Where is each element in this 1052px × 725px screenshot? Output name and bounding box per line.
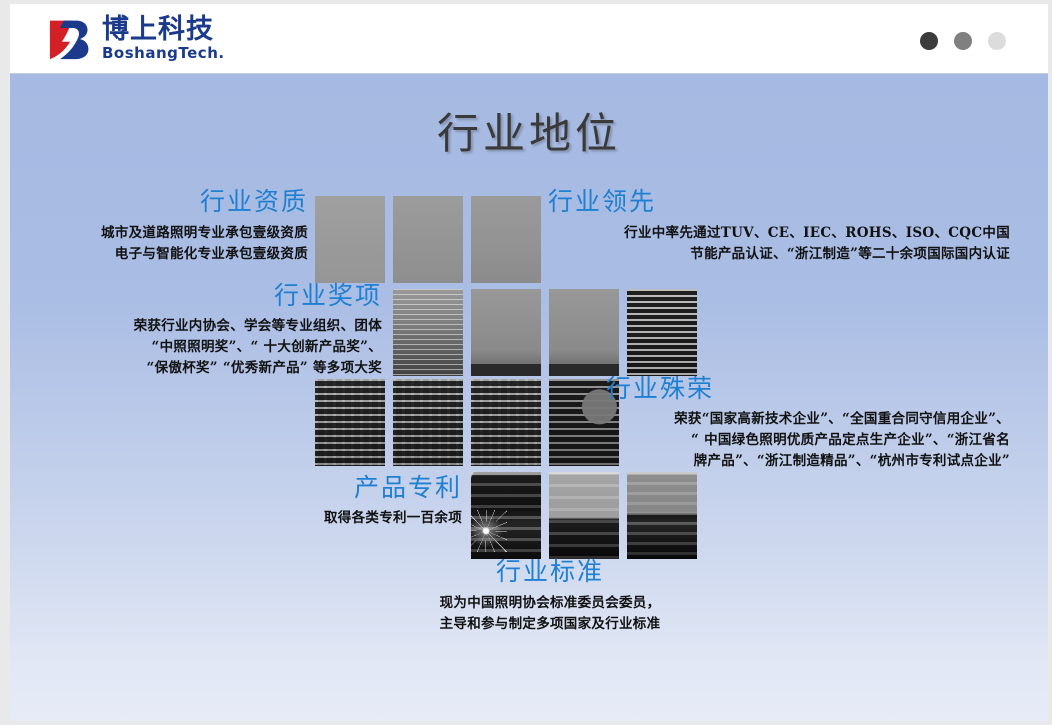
callout-patents-body: 取得各类专利一百余项 [190, 508, 462, 529]
brand-name-cn: 博上科技 [102, 16, 225, 43]
callout-patents-line-1: 取得各类专利一百余项 [190, 508, 462, 529]
callout-patents-heading: 产品专利 [190, 474, 462, 503]
brand-name-en: BoshangTech. [102, 46, 225, 61]
callout-standards-line-1: 现为中国照明协会标准委员会委员， [340, 593, 760, 614]
callout-qualification: 行业资质 城市及道路照明专业承包壹级资质 电子与智能化专业承包壹级资质 [30, 188, 308, 265]
callout-qualification-line-2: 电子与智能化专业承包壹级资质 [30, 244, 308, 265]
page-header: 博上科技 BoshangTech. [10, 4, 1048, 74]
dot-medium-icon[interactable] [954, 32, 972, 50]
callout-honors-body: 荣获“国家高新技术企业”、“全国重合同守信用企业”、 “ 中国绿色照明优质产品定… [606, 409, 1010, 472]
slide-viewer: 博上科技 BoshangTech. 行业地位 [0, 0, 1052, 725]
callout-leading-line-1: 行业中率先通过TUV、CE、IEC、ROHS、ISO、CQC中国 [548, 223, 1010, 244]
photo-tile-sky-3 [471, 196, 541, 283]
dot-light-icon[interactable] [988, 32, 1006, 50]
callout-leading-heading: 行业领先 [548, 188, 1010, 217]
callout-awards-line-3: “保傲杯奖” “优秀新产品” 等多项大奖 [70, 358, 382, 379]
photo-tile-dome [549, 289, 619, 376]
slide-canvas: 行业地位 行业资质 [10, 74, 1048, 721]
callout-leading-line-2: 节能产品认证、“浙江制造”等二十余项国际国内认证 [548, 244, 1010, 265]
dot-dark-icon[interactable] [920, 32, 938, 50]
callout-awards-line-1: 荣获行业内协会、学会等专业组织、团体 [70, 316, 382, 337]
photo-tile-street-3 [627, 472, 697, 559]
callout-standards-body: 现为中国照明协会标准委员会委员， 主导和参与制定多项国家及行业标准 [340, 593, 760, 635]
photo-tile-street-2 [549, 472, 619, 559]
callout-standards-heading: 行业标准 [340, 558, 760, 587]
callout-patents: 产品专利 取得各类专利一百余项 [190, 474, 462, 529]
callout-qualification-line-1: 城市及道路照明专业承包壹级资质 [30, 223, 308, 244]
photo-tile-block-2 [393, 379, 463, 466]
callout-honors: 行业殊荣 荣获“国家高新技术企业”、“全国重合同守信用企业”、 “ 中国绿色照明… [606, 375, 1010, 472]
callout-qualification-heading: 行业资质 [30, 188, 308, 217]
callout-honors-line-3: 牌产品”、“浙江制造精品”、“杭州市专利试点企业” [606, 451, 1010, 472]
callout-qualification-body: 城市及道路照明专业承包壹级资质 电子与智能化专业承包壹级资质 [30, 223, 308, 265]
light-flare-icon [471, 510, 507, 552]
header-dot-group [920, 32, 1006, 50]
brand-logo[interactable]: 博上科技 BoshangTech. [48, 16, 225, 61]
callout-awards-heading: 行业奖项 [70, 282, 382, 311]
boshang-b-logomark [48, 17, 94, 61]
photo-tile-sky-1 [315, 196, 385, 283]
callout-standards-line-2: 主导和参与制定多项国家及行业标准 [340, 614, 760, 635]
brand-logo-text: 博上科技 BoshangTech. [102, 16, 225, 61]
callout-honors-heading: 行业殊荣 [606, 375, 1010, 404]
photo-tile-tower [393, 289, 463, 376]
callout-honors-line-1: 荣获“国家高新技术企业”、“全国重合同守信用企业”、 [606, 409, 1010, 430]
callout-honors-line-2: “ 中国绿色照明优质产品定点生产企业”、“浙江省名 [606, 430, 1010, 451]
callout-awards-body: 荣获行业内协会、学会等专业组织、团体 “中照照明奖”、“ 十大创新产品奖”、 “… [70, 316, 382, 379]
photo-tile-block-1 [315, 379, 385, 466]
photo-tile-skyline [471, 289, 541, 376]
callout-awards: 行业奖项 荣获行业内协会、学会等专业组织、团体 “中照照明奖”、“ 十大创新产品… [70, 282, 382, 379]
callout-awards-line-2: “中照照明奖”、“ 十大创新产品奖”、 [70, 337, 382, 358]
callout-leading: 行业领先 行业中率先通过TUV、CE、IEC、ROHS、ISO、CQC中国 节能… [548, 188, 1010, 265]
photo-tile-sky-2 [393, 196, 463, 283]
photo-tile-street-1 [471, 472, 541, 559]
slide-title: 行业地位 [10, 100, 1048, 161]
photo-tile-facade [627, 289, 697, 376]
photo-tile-block-3 [471, 379, 541, 466]
callout-leading-body: 行业中率先通过TUV、CE、IEC、ROHS、ISO、CQC中国 节能产品认证、… [548, 223, 1010, 265]
callout-standards: 行业标准 现为中国照明协会标准委员会委员， 主导和参与制定多项国家及行业标准 [340, 558, 760, 635]
